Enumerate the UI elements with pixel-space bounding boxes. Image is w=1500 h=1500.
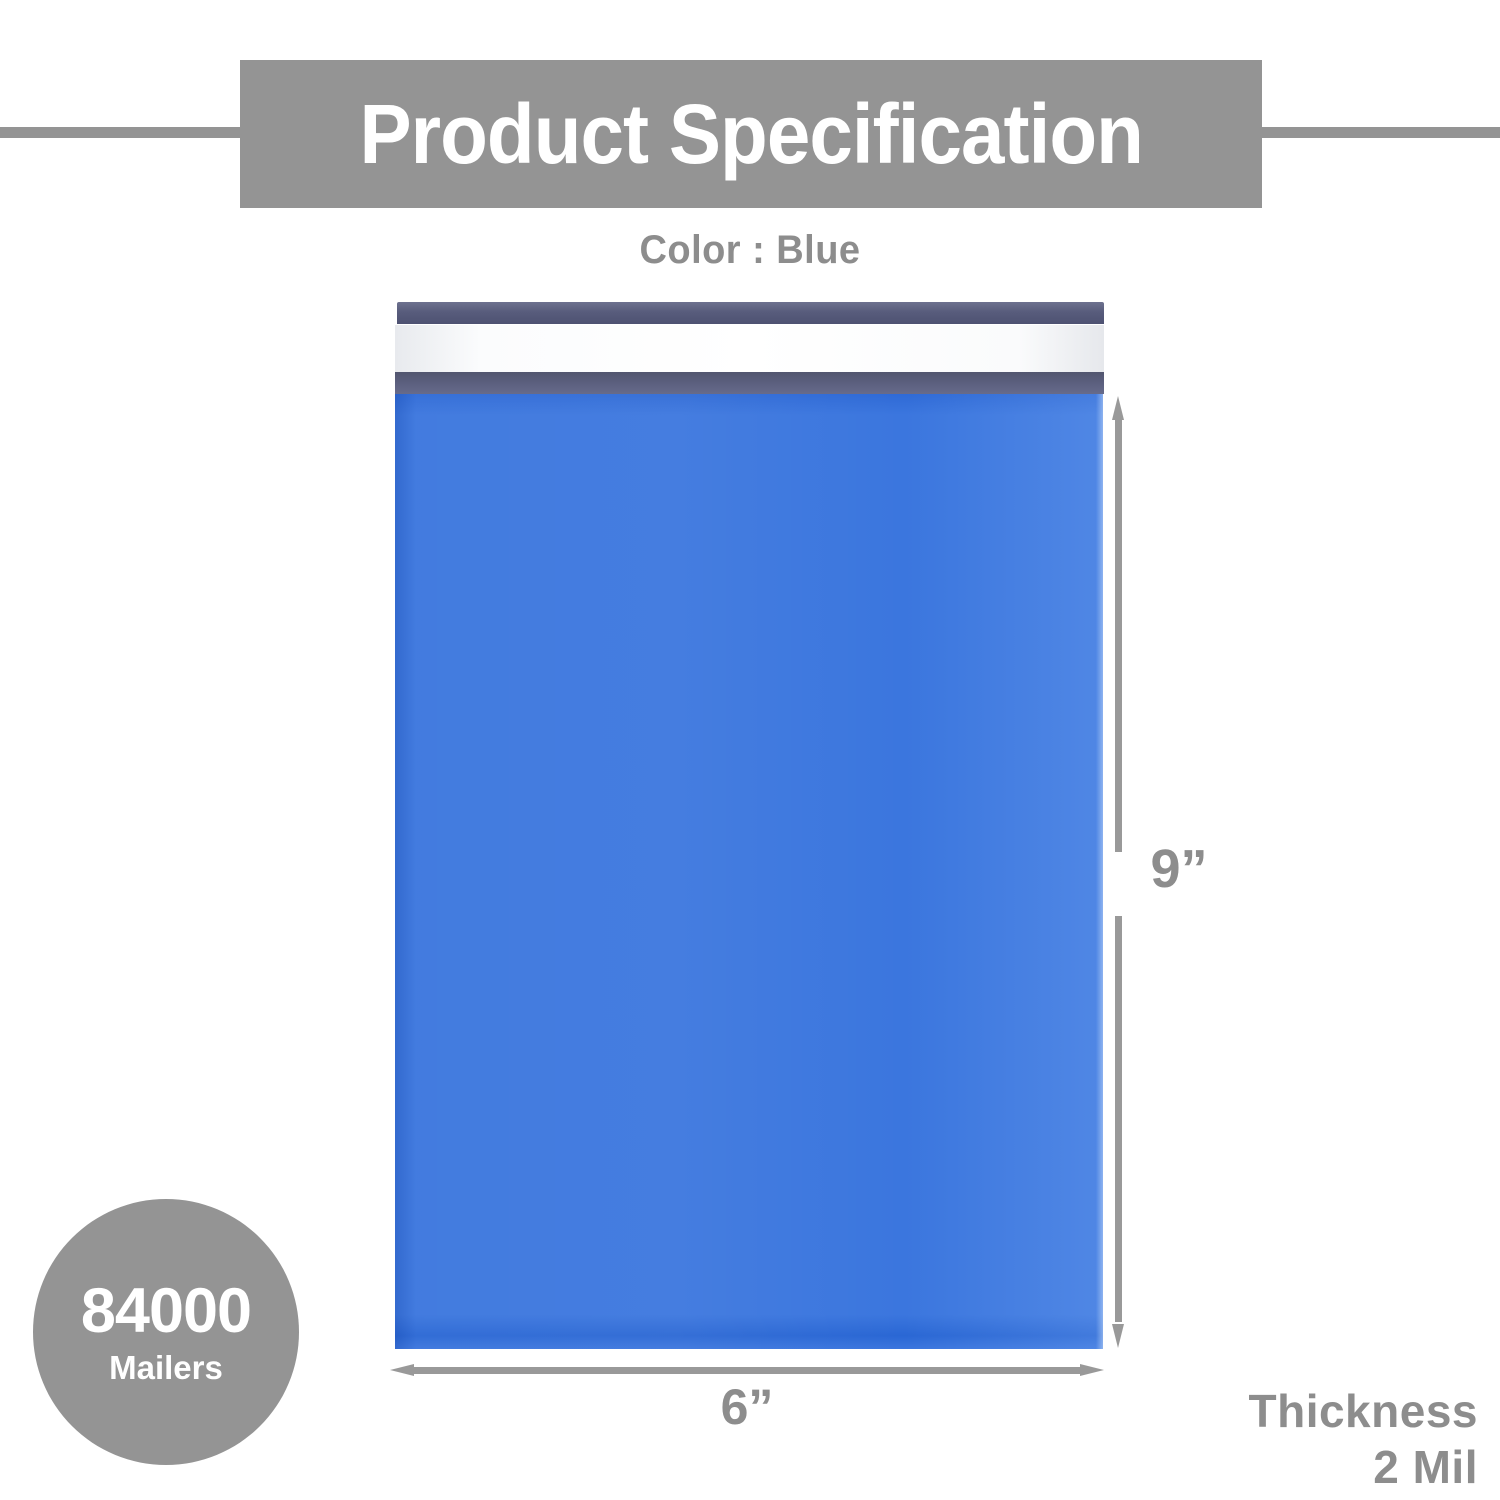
mailer-flap-bottom-strip [395, 372, 1104, 394]
width-dimension-line [390, 1364, 1104, 1376]
mailer-flap-top-strip [397, 302, 1104, 324]
quantity-unit: Mailers [109, 1351, 223, 1384]
color-caption: Color : Blue [38, 228, 1463, 273]
thickness-value: 2 Mil [1249, 1439, 1479, 1495]
width-line [412, 1367, 1082, 1374]
mailer-bag-body [395, 394, 1103, 1349]
header-rule-right [1255, 127, 1500, 138]
quantity-badge: 84000 Mailers [33, 1199, 299, 1465]
header-rule-left [0, 127, 245, 138]
height-line-upper [1115, 418, 1122, 852]
page-title: Product Specification [359, 92, 1142, 176]
mailer-flap-adhesive-liner [395, 325, 1104, 372]
arrow-right-icon [1080, 1364, 1104, 1376]
arrow-up-icon [1112, 396, 1124, 420]
title-banner: Product Specification [240, 60, 1262, 208]
mailer-bag-body-sheen [395, 394, 1103, 1349]
height-dimension-line [1112, 396, 1124, 1348]
arrow-left-icon [390, 1364, 414, 1376]
height-line-lower [1115, 916, 1122, 1322]
width-dimension-label: 6” [390, 1382, 1104, 1432]
mailer-bag-illustration [395, 302, 1104, 1349]
quantity-value: 84000 [81, 1280, 251, 1343]
height-dimension-label: 9” [1124, 842, 1234, 896]
thickness-label: Thickness [1249, 1383, 1479, 1439]
thickness-block: Thickness 2 Mil [1249, 1383, 1479, 1495]
arrow-down-icon [1112, 1324, 1124, 1348]
